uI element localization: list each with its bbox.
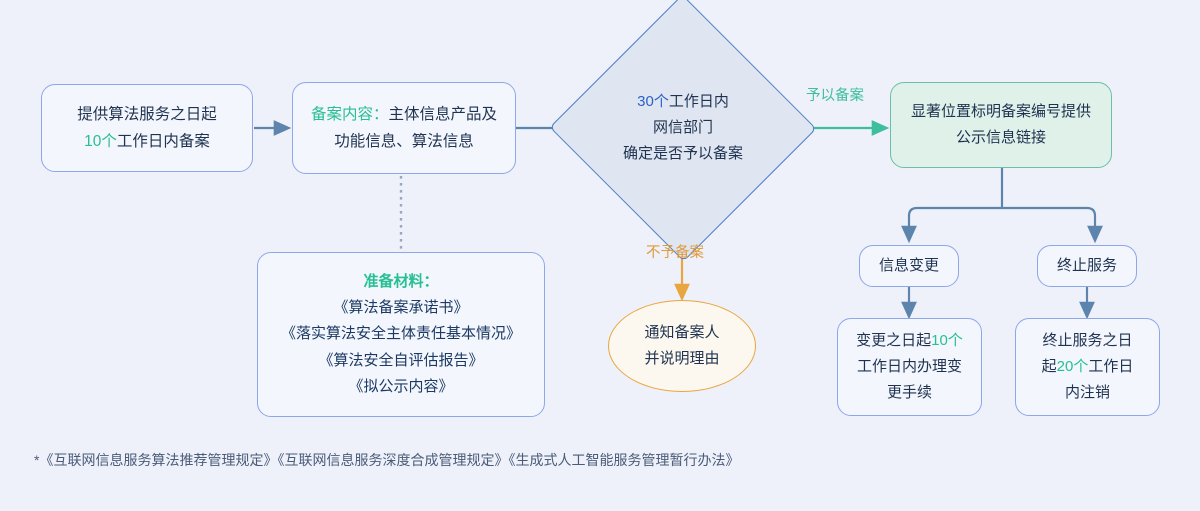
node-start-line1: 提供算法服务之日起 <box>52 101 242 128</box>
node-terminate-detail-line2-post: 工作日 <box>1088 358 1133 375</box>
node-terminate-label: 终止服务 <box>1048 253 1126 279</box>
node-terminate-detail[interactable]: 终止服务之日 起20个工作日 内注销 <box>1015 318 1160 416</box>
node-terminate-detail-line3: 内注销 <box>1026 380 1149 406</box>
node-terminate[interactable]: 终止服务 <box>1037 245 1137 287</box>
node-change-detail-line1-pre: 变更之日起 <box>856 332 931 349</box>
node-info-change-label: 信息变更 <box>870 253 948 279</box>
node-terminate-detail-line2: 起20个工作日 <box>1026 354 1149 380</box>
node-filing-content[interactable]: 备案内容：主体信息产品及 功能信息、算法信息 <box>292 82 516 174</box>
node-filing-line2: 功能信息、算法信息 <box>303 128 505 155</box>
node-start[interactable]: 提供算法服务之日起 10个工作日内备案 <box>41 84 253 172</box>
node-approved[interactable]: 显著位置标明备案编号提供 公示信息链接 <box>890 82 1112 168</box>
node-materials-item-3: 《拟公示内容》 <box>268 374 534 400</box>
node-rejected-line1: 通知备案人 <box>619 320 745 346</box>
node-materials[interactable]: 准备材料： 《算法备案承诺书》 《落实算法安全主体责任基本情况》 《算法安全自评… <box>257 252 545 417</box>
edge-label-approved: 予以备案 <box>806 84 864 105</box>
node-approved-line1: 显著位置标明备案编号提供 <box>901 99 1101 125</box>
node-materials-item-1: 《落实算法安全主体责任基本情况》 <box>268 321 534 347</box>
node-info-change[interactable]: 信息变更 <box>859 245 959 287</box>
node-start-accent: 10个 <box>84 133 117 150</box>
node-materials-heading: 准备材料： <box>268 269 534 295</box>
node-decision-accent: 30个 <box>637 93 669 110</box>
node-terminate-detail-accent: 20个 <box>1057 358 1089 375</box>
flowchart-canvas: 提供算法服务之日起 10个工作日内备案 备案内容：主体信息产品及 功能信息、算法… <box>0 0 1200 511</box>
node-change-detail-line1: 变更之日起10个 <box>848 328 971 354</box>
node-decision[interactable]: 30个工作日内 网信部门 确定是否予以备案 <box>588 34 778 222</box>
edge-label-rejected: 不予备案 <box>646 241 704 262</box>
node-materials-item-0: 《算法备案承诺书》 <box>268 295 534 321</box>
edge-approved-split <box>909 167 1095 240</box>
node-approved-line2: 公示信息链接 <box>901 125 1101 151</box>
node-filing-label: 备案内容： <box>311 106 389 123</box>
node-change-detail[interactable]: 变更之日起10个 工作日内办理变 更手续 <box>837 318 982 416</box>
node-start-line2-rest: 工作日内备案 <box>117 133 210 150</box>
node-decision-line2: 网信部门 <box>623 115 743 141</box>
node-start-line2: 10个工作日内备案 <box>52 128 242 155</box>
node-rejected-line2: 并说明理由 <box>619 346 745 372</box>
node-decision-line1: 30个工作日内 <box>623 89 743 115</box>
node-change-detail-accent: 10个 <box>931 332 963 349</box>
node-filing-line1: 备案内容：主体信息产品及 <box>303 101 505 128</box>
node-decision-line1-rest: 工作日内 <box>669 93 729 110</box>
node-rejected[interactable]: 通知备案人 并说明理由 <box>608 300 756 392</box>
decision-text-wrap: 30个工作日内 网信部门 确定是否予以备案 <box>588 34 778 222</box>
node-decision-line3: 确定是否予以备案 <box>623 141 743 167</box>
node-change-detail-line2: 工作日内办理变 <box>848 354 971 380</box>
node-terminate-detail-line1: 终止服务之日 <box>1026 328 1149 354</box>
node-filing-line1-rest: 主体信息产品及 <box>389 106 498 123</box>
node-materials-item-2: 《算法安全自评估报告》 <box>268 348 534 374</box>
node-terminate-detail-line2-pre: 起 <box>1042 358 1057 375</box>
footnote: *《互联网信息服务算法推荐管理规定》《互联网信息服务深度合成管理规定》《生成式人… <box>34 450 739 470</box>
node-change-detail-line3: 更手续 <box>848 380 971 406</box>
